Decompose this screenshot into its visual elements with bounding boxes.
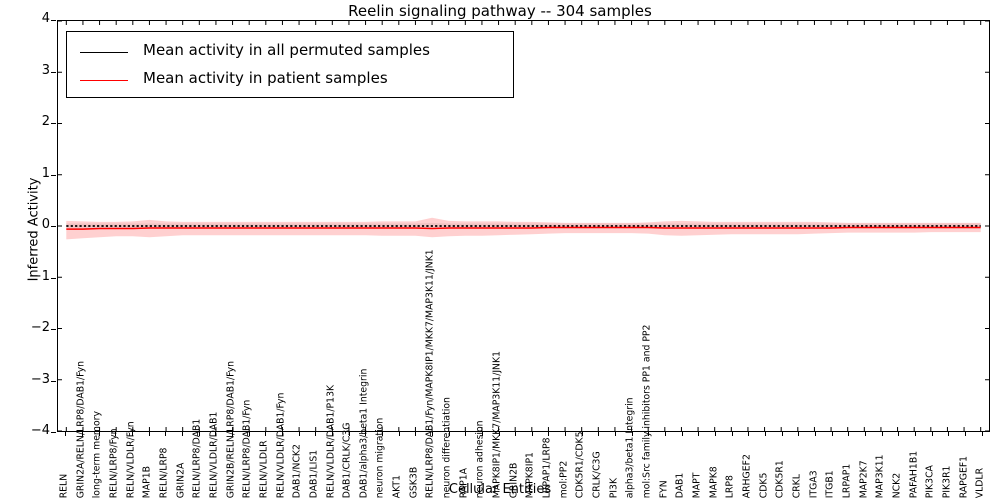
x-tick-label: PIK3R1 (943, 465, 952, 498)
x-tick-label: PAFAH1B1 (909, 451, 918, 498)
x-tick-label: LRPAP1 (843, 463, 852, 498)
x-tick-mark (698, 432, 699, 436)
x-tick-label: long-term memory (93, 411, 102, 498)
x-tick-label: alpha3/beta1 Integrin (626, 397, 635, 498)
x-tick-label: FYN (659, 480, 668, 498)
legend-entry-permuted: Mean activity in all permuted samples (67, 40, 513, 66)
x-tick-mark (265, 432, 266, 436)
x-tick-label: CRKL (793, 474, 802, 498)
x-tick-mark (748, 432, 749, 436)
x-tick-label: GRIN2B/RELN/LRP8/DAB1/Fyn (226, 361, 235, 498)
x-tick-mark (315, 432, 316, 436)
x-tick-mark (915, 432, 916, 436)
x-tick-mark (965, 432, 966, 436)
x-tick-mark (548, 432, 549, 436)
legend-label-patient: Mean activity in patient samples (143, 69, 388, 87)
x-tick-mark (765, 432, 766, 436)
x-tick-label: PI3K (609, 478, 618, 498)
x-tick-mark (782, 432, 783, 436)
x-tick-label: RELN/LRP8/DAB1 (193, 418, 202, 498)
x-tick-mark (948, 432, 949, 436)
y-tick-label: −2 (8, 320, 50, 335)
x-tick-label: DAB1/alpha3/beta1 Integrin (360, 368, 369, 498)
legend-line-permuted (80, 52, 128, 55)
x-tick-label: ARHGEF2 (743, 454, 752, 498)
y-tick-label: 4 (8, 11, 50, 26)
x-tick-label: ITGB1 (826, 470, 835, 498)
y-tick-label: 2 (8, 114, 50, 129)
legend-line-patient (80, 80, 128, 83)
x-tick-label: NCK2 (893, 473, 902, 498)
x-tick-label: RELN/VLDLR/DAB1/P13K (326, 385, 335, 498)
x-tick-mark (182, 432, 183, 436)
x-tick-mark (682, 432, 683, 436)
x-tick-label: LRPAP1/LRP8 (543, 437, 552, 498)
x-tick-label: MAPK8 (709, 466, 718, 498)
x-tick-label: CDK5 (759, 472, 768, 498)
x-tick-label: MAPT (693, 472, 702, 498)
x-tick-mark (515, 432, 516, 436)
x-tick-label: DAB1/LIS1 (310, 449, 319, 498)
x-tick-label: GRIN2B (509, 462, 518, 498)
x-tick-mark (598, 432, 599, 436)
x-tick-label: ITGA3 (809, 470, 818, 498)
x-tick-label: RELN/LRP8/DAB1/Fyn (243, 399, 252, 498)
x-tick-label: DAB1/CRLK/C3G (343, 422, 352, 498)
x-tick-label: CDK5R1 (776, 460, 785, 498)
y-tick-label: −1 (8, 269, 50, 284)
y-tick-label: 3 (8, 63, 50, 78)
x-tick-label: GRIN2A (176, 462, 185, 498)
x-tick-label: RELN/VLDLR/DAB1 (210, 411, 219, 498)
x-tick-mark (415, 432, 416, 436)
x-tick-mark (865, 432, 866, 436)
x-tick-label: MAP1B (143, 466, 152, 498)
x-tick-mark (665, 432, 666, 436)
x-tick-label: CRLK/C3G (593, 451, 602, 498)
x-tick-label: RELN/LRP8/DAB1/Fyn/MAPK8IP1/MKK7/MAP3K11… (426, 249, 435, 498)
x-tick-label: neuron differentiation (443, 397, 452, 498)
x-tick-label: VLDLR (976, 468, 985, 498)
x-tick-mark (532, 432, 533, 436)
x-tick-label: RAP1A (459, 468, 468, 498)
x-tick-label: RELN (60, 474, 69, 498)
x-tick-label: CDK5R1/CDK5 (576, 431, 585, 498)
x-tick-mark (848, 432, 849, 436)
x-tick-label: mol:Src family inhibitors PP1 and PP2 (643, 324, 652, 498)
chart-title: Reelin signaling pathway -- 304 samples (0, 2, 1000, 20)
x-tick-label: MAP3K11 (876, 454, 885, 498)
y-tick-mark (51, 381, 56, 382)
y-tick-mark (51, 278, 56, 279)
x-tick-label: neuron adhesion (476, 420, 485, 498)
x-tick-mark (982, 432, 983, 436)
chart-figure: Reelin signaling pathway -- 304 samples … (0, 0, 1000, 500)
x-tick-label: MAP2K7 (859, 460, 868, 498)
x-tick-mark (732, 432, 733, 436)
y-tick-mark (51, 72, 56, 73)
y-tick-mark (51, 20, 56, 21)
x-tick-mark (65, 432, 66, 436)
y-tick-mark (51, 329, 56, 330)
x-tick-label: PIK3CA (926, 465, 935, 498)
x-tick-label: AKT1 (393, 475, 402, 498)
x-tick-label: MAPK8IP1/MKK7/MAP3K11/JNK1 (493, 351, 502, 498)
x-tick-label: DAB1/NCK2 (293, 444, 302, 498)
x-tick-mark (715, 432, 716, 436)
x-tick-label: RELN/LRP8/Fyn (110, 428, 119, 498)
y-tick-label: 1 (8, 166, 50, 181)
x-tick-mark (565, 432, 566, 436)
legend-entry-patient: Mean activity in patient samples (67, 68, 513, 94)
x-tick-label: neuron migration (376, 417, 385, 498)
x-tick-label: GSK3B (410, 467, 419, 499)
x-tick-mark (798, 432, 799, 436)
x-tick-label: RELN/VLDLR/DAB1/Fyn (276, 392, 285, 498)
x-tick-mark (832, 432, 833, 436)
x-tick-mark (882, 432, 883, 436)
x-tick-label: GRIN2A/RELN/LRP8/DAB1/Fyn (76, 361, 85, 498)
x-tick-mark (898, 432, 899, 436)
y-tick-label: 0 (8, 217, 50, 232)
x-tick-mark (615, 432, 616, 436)
y-tick-label: −3 (8, 372, 50, 387)
x-tick-label: RELN/LRP8 (160, 447, 169, 498)
chart-legend: Mean activity in all permuted samples Me… (66, 31, 514, 98)
x-tick-mark (465, 432, 466, 436)
x-tick-label: DAB1 (676, 472, 685, 498)
y-tick-mark (51, 175, 56, 176)
x-tick-label: MAPK8IP1 (526, 452, 535, 498)
x-tick-label: RAPGEF1 (959, 456, 968, 498)
y-tick-mark (51, 226, 56, 227)
y-tick-mark (51, 123, 56, 124)
x-tick-mark (149, 432, 150, 436)
x-tick-label: mol:PP2 (559, 460, 568, 498)
x-tick-label: RELN/VLDLR (260, 440, 269, 498)
x-tick-mark (299, 432, 300, 436)
x-axis-ticks: RELNGRIN2A/RELN/LRP8/DAB1/Fynlong-term m… (0, 432, 1000, 500)
x-tick-mark (399, 432, 400, 436)
x-tick-label: RELN/VLDLR/Fyn (126, 421, 135, 498)
legend-label-permuted: Mean activity in all permuted samples (143, 41, 430, 59)
x-tick-mark (932, 432, 933, 436)
x-tick-mark (815, 432, 816, 436)
x-tick-label: LRP8 (726, 475, 735, 498)
x-tick-mark (165, 432, 166, 436)
